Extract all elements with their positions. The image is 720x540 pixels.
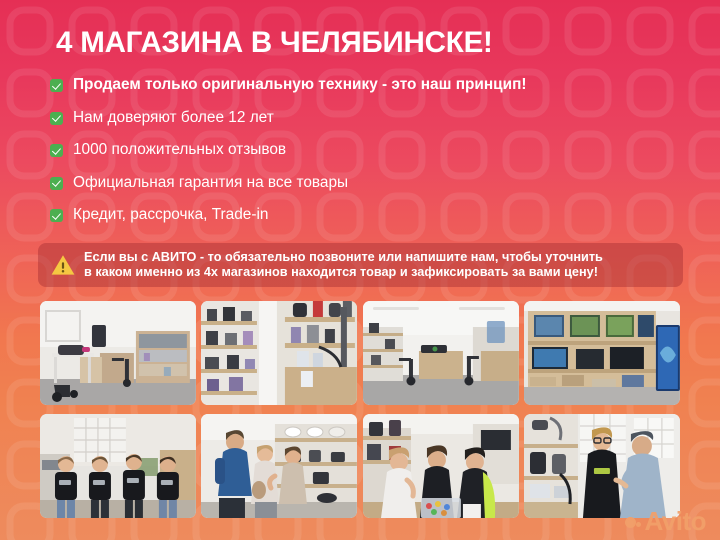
- notice-line-1: Если вы с АВИТО - то обязательно позвони…: [84, 250, 603, 266]
- list-item-label: Официальная гарантия на все товары: [73, 174, 348, 192]
- photo-tile[interactable]: [524, 301, 680, 405]
- advertisement-banner: 4 МАГАЗИНА В ЧЕЛЯБИНСКЕ! Продаем только …: [0, 0, 720, 540]
- check-icon: [50, 209, 63, 222]
- photo-tile[interactable]: [40, 414, 196, 518]
- list-item-label: Кредит, рассрочка, Trade-in: [73, 206, 268, 224]
- photo-tile[interactable]: [201, 301, 357, 405]
- list-item: Кредит, рассрочка, Trade-in: [50, 206, 700, 239]
- benefits-list: Продаем только оригинальную технику - эт…: [50, 76, 700, 239]
- list-item: 1000 положительных отзывов: [50, 141, 700, 174]
- list-item-label: Продаем только оригинальную технику - эт…: [73, 76, 527, 94]
- page-title: 4 МАГАЗИНА В ЧЕЛЯБИНСКЕ!: [56, 26, 696, 60]
- check-icon: [50, 177, 63, 190]
- photo-grid: [40, 301, 680, 518]
- notice-text: Если вы с АВИТО - то обязательно позвони…: [84, 250, 603, 281]
- warning-triangle-icon: [50, 252, 76, 278]
- list-item-label: 1000 положительных отзывов: [73, 141, 286, 159]
- photo-tile[interactable]: [363, 414, 519, 518]
- photo-tile[interactable]: [363, 301, 519, 405]
- check-icon: [50, 144, 63, 157]
- photo-tile[interactable]: [524, 414, 680, 518]
- staff-helping-customer-image: [524, 414, 680, 518]
- list-item: Продаем только оригинальную технику - эт…: [50, 76, 700, 109]
- check-icon: [50, 112, 63, 125]
- store-interior-counter-scooter-image: [40, 301, 196, 405]
- store-tv-display-wall-image: [524, 301, 680, 405]
- store-aisle-scooters-counter-image: [363, 301, 519, 405]
- three-women-at-counter-image: [363, 414, 519, 518]
- photo-tile[interactable]: [40, 301, 196, 405]
- list-item: Официальная гарантия на все товары: [50, 174, 700, 207]
- photo-tile[interactable]: [201, 414, 357, 518]
- list-item: Нам доверяют более 12 лет: [50, 109, 700, 142]
- customers-browsing-shelves-image: [201, 414, 357, 518]
- check-icon: [50, 79, 63, 92]
- staff-team-four-people-image: [40, 414, 196, 518]
- notice-line-2: в каком именно из 4х магазинов находится…: [84, 265, 603, 281]
- list-item-label: Нам доверяют более 12 лет: [73, 109, 274, 127]
- notice-box: Если вы с АВИТО - то обязательно позвони…: [38, 243, 683, 287]
- store-shelves-vacuum-cleaners-image: [201, 301, 357, 405]
